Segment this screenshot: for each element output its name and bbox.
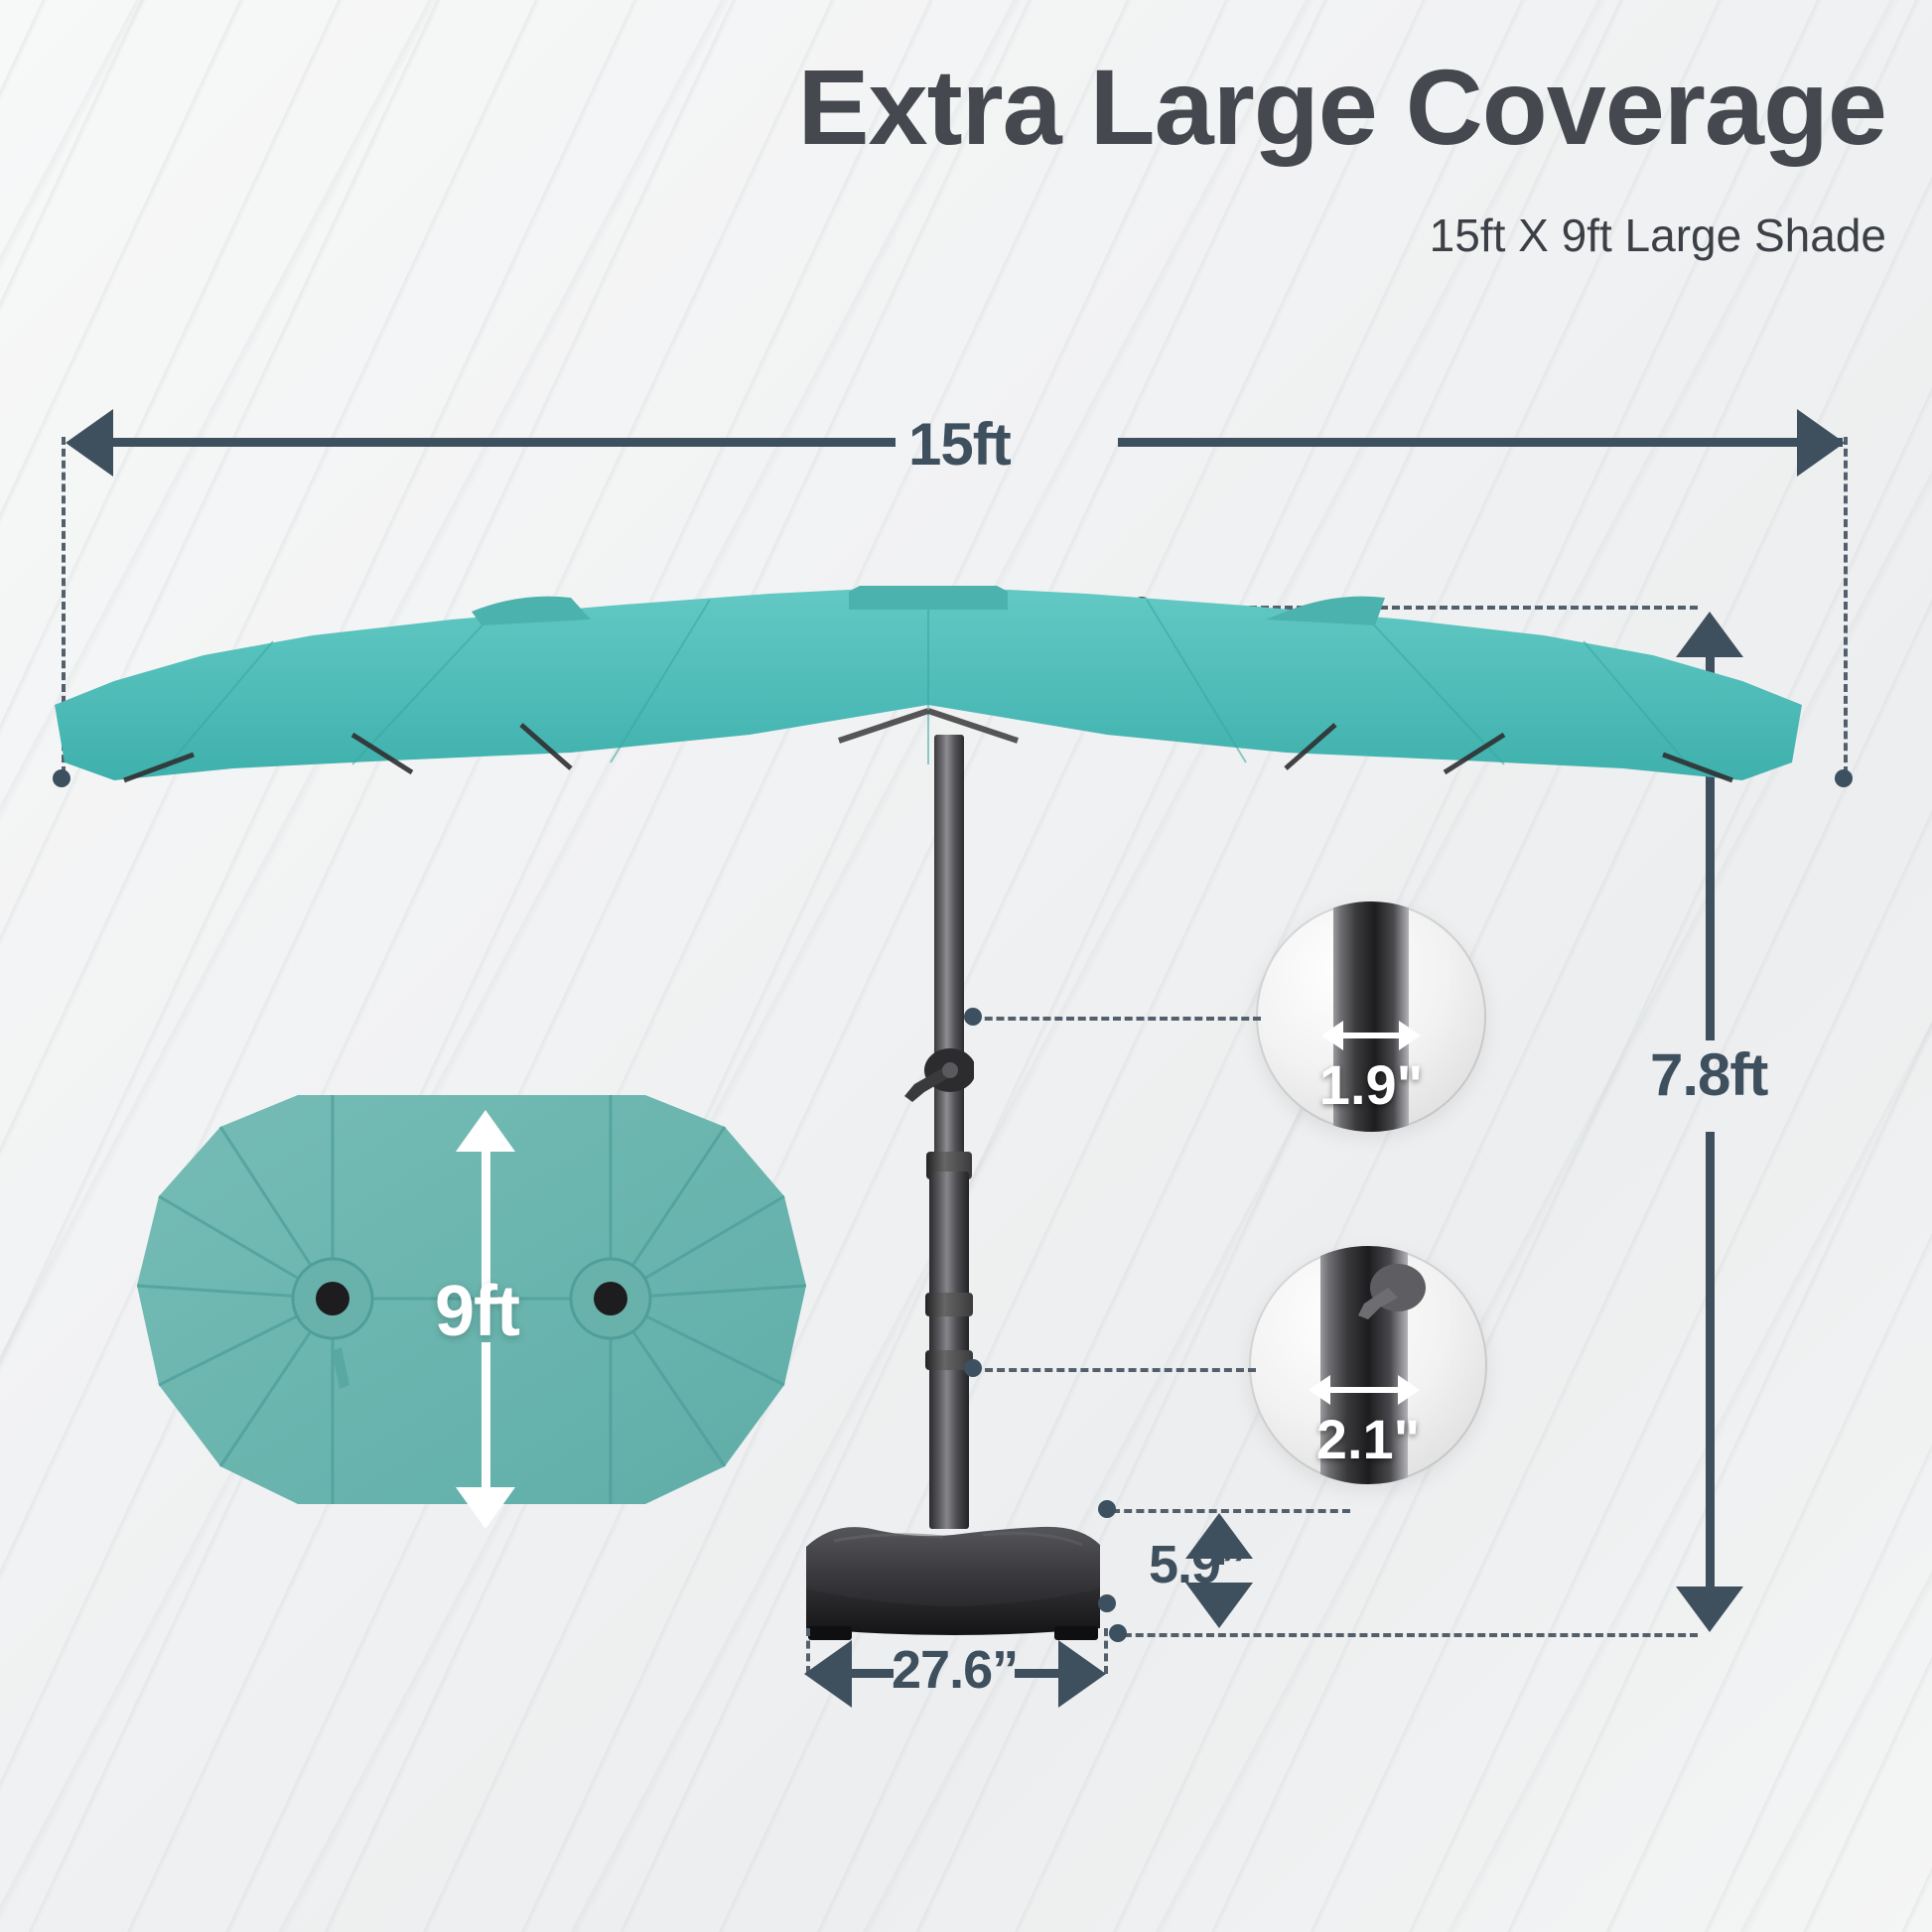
arrow-left-icon — [66, 409, 113, 477]
dimension-label-depth: 9ft — [435, 1271, 519, 1352]
page-subtitle: 15ft X 9ft Large Shade — [0, 208, 1886, 262]
width-rule-right — [1118, 438, 1843, 447]
dimension-label-width: 15ft — [908, 410, 1011, 479]
guide-line-base-bottom — [1112, 1633, 1698, 1637]
arrow-left-white-icon — [1309, 1375, 1330, 1405]
arrow-right-icon — [1797, 409, 1845, 477]
callout-dot-lower — [964, 1359, 982, 1377]
callout-leader-upper — [973, 1017, 1261, 1021]
base-top-guide-dot — [1098, 1500, 1116, 1518]
arrow-left-icon — [804, 1640, 852, 1708]
arrow-left-white-icon — [1321, 1021, 1343, 1050]
pole-joint-lower — [925, 1293, 973, 1316]
arrow-down-white-icon — [456, 1487, 515, 1529]
magnified-crank-handle — [1354, 1258, 1438, 1327]
arrow-right-white-icon — [1399, 1021, 1421, 1050]
base-width-rule-left — [850, 1669, 894, 1678]
callout-label-lower-pole: 2.1" — [1249, 1407, 1487, 1471]
dimension-label-base-width: 27.6” — [892, 1639, 1018, 1701]
magnifier-arrow-upper — [1321, 1021, 1421, 1050]
guide-line-right — [1844, 437, 1848, 774]
callout-magnifier-upper-pole: 1.9" — [1256, 901, 1486, 1132]
arrow-right-icon — [1058, 1640, 1106, 1708]
magnifier-arrow-lower — [1309, 1375, 1420, 1405]
width-rule-left — [111, 438, 896, 447]
dimension-label-height: 7.8ft — [1650, 1040, 1767, 1109]
guide-dot-right-bottom — [1835, 769, 1853, 787]
magnifier-rule — [1330, 1387, 1398, 1393]
callout-leader-lower — [973, 1368, 1256, 1372]
top-view-hub-right-cap — [594, 1282, 627, 1315]
magnifier-rule — [1343, 1033, 1399, 1038]
dimension-label-base-height: 5.9” — [1149, 1534, 1246, 1595]
base-width-rule-right — [1015, 1669, 1058, 1678]
infographic-canvas: Extra Large Coverage 15ft X 9ft Large Sh… — [0, 0, 1932, 1932]
height-rule-bottom — [1706, 1132, 1715, 1590]
callout-label-upper-pole: 1.9" — [1256, 1052, 1486, 1117]
canopy-svg — [55, 586, 1802, 794]
arrow-up-white-icon — [456, 1110, 515, 1152]
arrow-down-icon — [1676, 1587, 1743, 1632]
double-sided-patio-umbrella-front-view — [55, 586, 1802, 794]
base-bottom-guide-dot-2 — [1109, 1624, 1127, 1642]
callout-magnifier-lower-pole: 2.1" — [1249, 1246, 1487, 1484]
page-title: Extra Large Coverage — [0, 46, 1886, 169]
arrow-right-white-icon — [1398, 1375, 1420, 1405]
base-foot-right — [1054, 1626, 1098, 1640]
base-bottom-guide-dot — [1098, 1594, 1116, 1612]
crank-handle — [898, 1044, 974, 1110]
weighted-umbrella-base — [794, 1501, 1112, 1650]
top-view-hub-left-cap — [316, 1282, 349, 1315]
base-foot-left — [808, 1626, 852, 1640]
depth-rule-bottom — [482, 1342, 490, 1489]
callout-dot-upper — [964, 1008, 982, 1026]
